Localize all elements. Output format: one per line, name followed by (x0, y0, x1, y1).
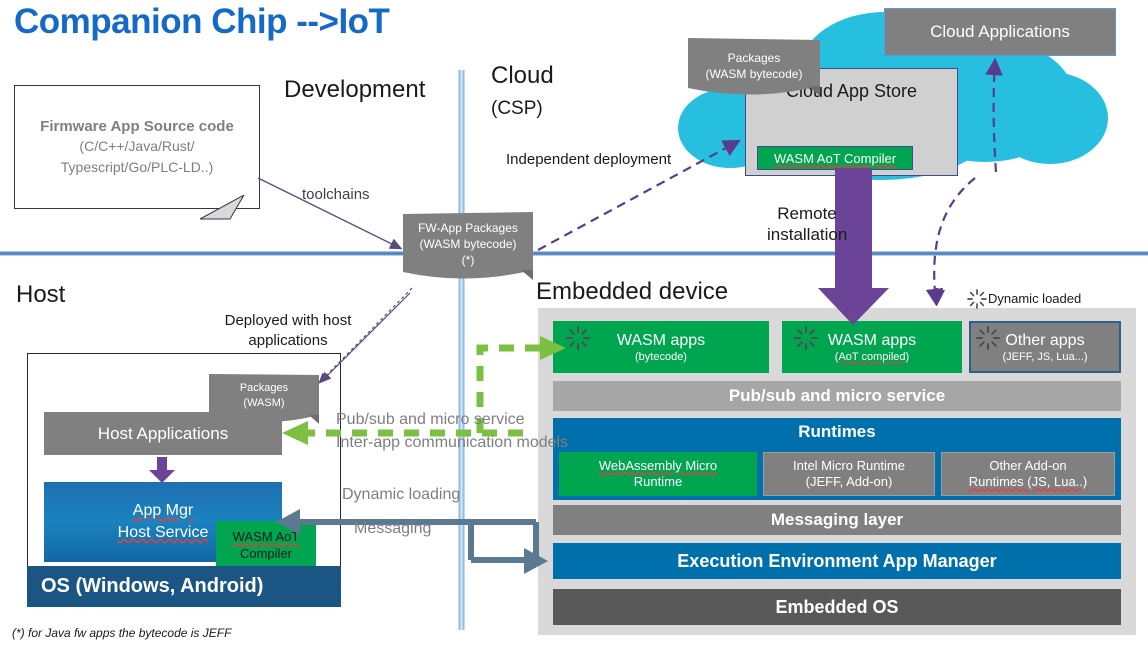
embedded-app-manager: Execution Environment App Manager (553, 543, 1121, 579)
emb-app-1-main: WASM apps (617, 332, 705, 350)
deployed-line1: Deployed with host (218, 311, 358, 331)
host-os-label: OS (Windows, Android) (41, 575, 263, 598)
app-mgr-line1: App Mgr (133, 502, 193, 519)
horizontal-divider (0, 251, 1148, 256)
emb-app-1-sub: (bytecode) (635, 351, 687, 363)
legend-dynamic-loaded: Dynamic loaded (988, 291, 1081, 306)
emb-app-3-sub: (JEFF, JS, Lua...) (1003, 351, 1088, 363)
rt-1-line2: Runtime (634, 474, 682, 490)
embedded-app-manager-label: Execution Environment App Manager (677, 551, 996, 572)
fw-pkg-line2: (WASM bytecode) (403, 236, 533, 252)
fw-pkg-line3: (*) (403, 252, 533, 268)
embedded-app-other: Other apps (JEFF, JS, Lua...) (969, 321, 1121, 373)
embedded-messaging-label: Messaging layer (771, 510, 903, 530)
footnote: (*) for Java fw apps the bytecode is JEF… (12, 626, 231, 640)
rt-3-line1: Other Add-on (989, 458, 1066, 474)
section-label-embedded: Embedded device (536, 278, 728, 306)
fw-app-packages-label: FW-App Packages (WASM bytecode) (*) (403, 220, 533, 269)
aot-host-line2: Compiler (240, 546, 292, 563)
host-os-bar: OS (Windows, Android) (27, 566, 341, 607)
runtime-intel-micro: Intel Micro Runtime (JEFF, Add-on) (763, 452, 935, 496)
firmware-callout-tail (200, 195, 246, 221)
embedded-app-wasm-bytecode: WASM apps (bytecode) (553, 321, 769, 373)
cloud-pkg-line2: (WASM bytecode) (688, 66, 820, 82)
runtime-other-addon: Other Add-on Runtimes (JS, Lua..) (941, 452, 1115, 496)
embedded-app-wasm-aot: WASM apps (AoT compiled) (782, 321, 962, 373)
label-remote-installation: Remote installation (767, 203, 847, 246)
rt-2-line1: Intel Micro Runtime (793, 458, 905, 474)
embedded-os: Embedded OS (553, 589, 1121, 625)
embedded-os-label: Embedded OS (775, 597, 898, 618)
embedded-runtimes-title-label: Runtimes (798, 422, 875, 442)
aot-host-line1: WASM AoT (233, 529, 300, 544)
section-label-host: Host (16, 281, 65, 309)
host-pkg-line2: (WASM) (209, 396, 319, 411)
section-label-cloud-sub: (CSP) (491, 98, 543, 120)
cloud-packages-label: Packages (WASM bytecode) (688, 50, 820, 82)
label-inter-app-communication: Inter-app communication models (336, 434, 568, 452)
cloud-aot-label: WASM AoT Compiler (774, 151, 896, 166)
vertical-divider (458, 70, 465, 630)
remote-install-line2: installation (767, 224, 847, 245)
rt-3-line2: Runtimes (JS, Lua..) (969, 474, 1088, 489)
section-label-cloud: Cloud (491, 62, 554, 90)
firmware-langs-line1: (C/C++/Java/Rust/ (79, 137, 194, 156)
rt-1-line1: WebAssembly Micro (599, 458, 717, 473)
runtime-webassembly-micro: WebAssembly Micro Runtime (559, 452, 757, 496)
rt-2-line2: (JEFF, Add-on) (806, 474, 893, 490)
remote-install-line1: Remote (767, 203, 847, 224)
label-toolchains: toolchains (302, 186, 370, 203)
cloud-applications-label: Cloud Applications (930, 22, 1070, 42)
deployed-line2: applications (218, 331, 358, 351)
section-label-development: Development (284, 76, 425, 104)
embedded-pubsub-label: Pub/sub and micro service (729, 386, 945, 406)
host-packages-label: Packages (WASM) (209, 381, 319, 412)
emb-app-2-main: WASM apps (828, 332, 916, 350)
app-mgr-line2: Host Service (118, 524, 209, 541)
firmware-heading: Firmware App Source code (40, 118, 234, 135)
cloud-pkg-line1: Packages (688, 50, 820, 66)
host-pkg-line1: Packages (209, 381, 319, 396)
cloud-wasm-aot-compiler: WASM AoT Compiler (757, 146, 913, 170)
page-title: Companion Chip -->IoT (14, 2, 389, 42)
host-purple-down-arrow (148, 457, 176, 483)
embedded-runtimes-title: Runtimes (553, 420, 1121, 444)
fw-pkg-line1: FW-App Packages (403, 220, 533, 236)
host-wasm-aot-compiler: WASM AoT Compiler (216, 521, 316, 571)
host-applications-label: Host Applications (98, 424, 228, 444)
label-pubsub-micro-service: Pub/sub and micro service (336, 411, 525, 429)
label-messaging: Messaging (354, 520, 431, 538)
firmware-source-box: Firmware App Source code (C/C++/Java/Rus… (14, 85, 260, 209)
firmware-langs-line2: Typescript/Go/PLC-LD..) (61, 158, 214, 177)
embedded-messaging-layer: Messaging layer (553, 505, 1121, 535)
emb-app-2-sub: (AoT compiled) (835, 351, 909, 363)
label-deployed-with-host: Deployed with host applications (218, 311, 358, 350)
cloud-applications-box: Cloud Applications (884, 8, 1116, 56)
emb-app-3-main: Other apps (1005, 332, 1084, 350)
embedded-pubsub-bar: Pub/sub and micro service (553, 381, 1121, 411)
label-independent-deployment: Independent deployment (506, 151, 671, 168)
label-dynamic-loading: Dynamic loading (342, 486, 460, 504)
